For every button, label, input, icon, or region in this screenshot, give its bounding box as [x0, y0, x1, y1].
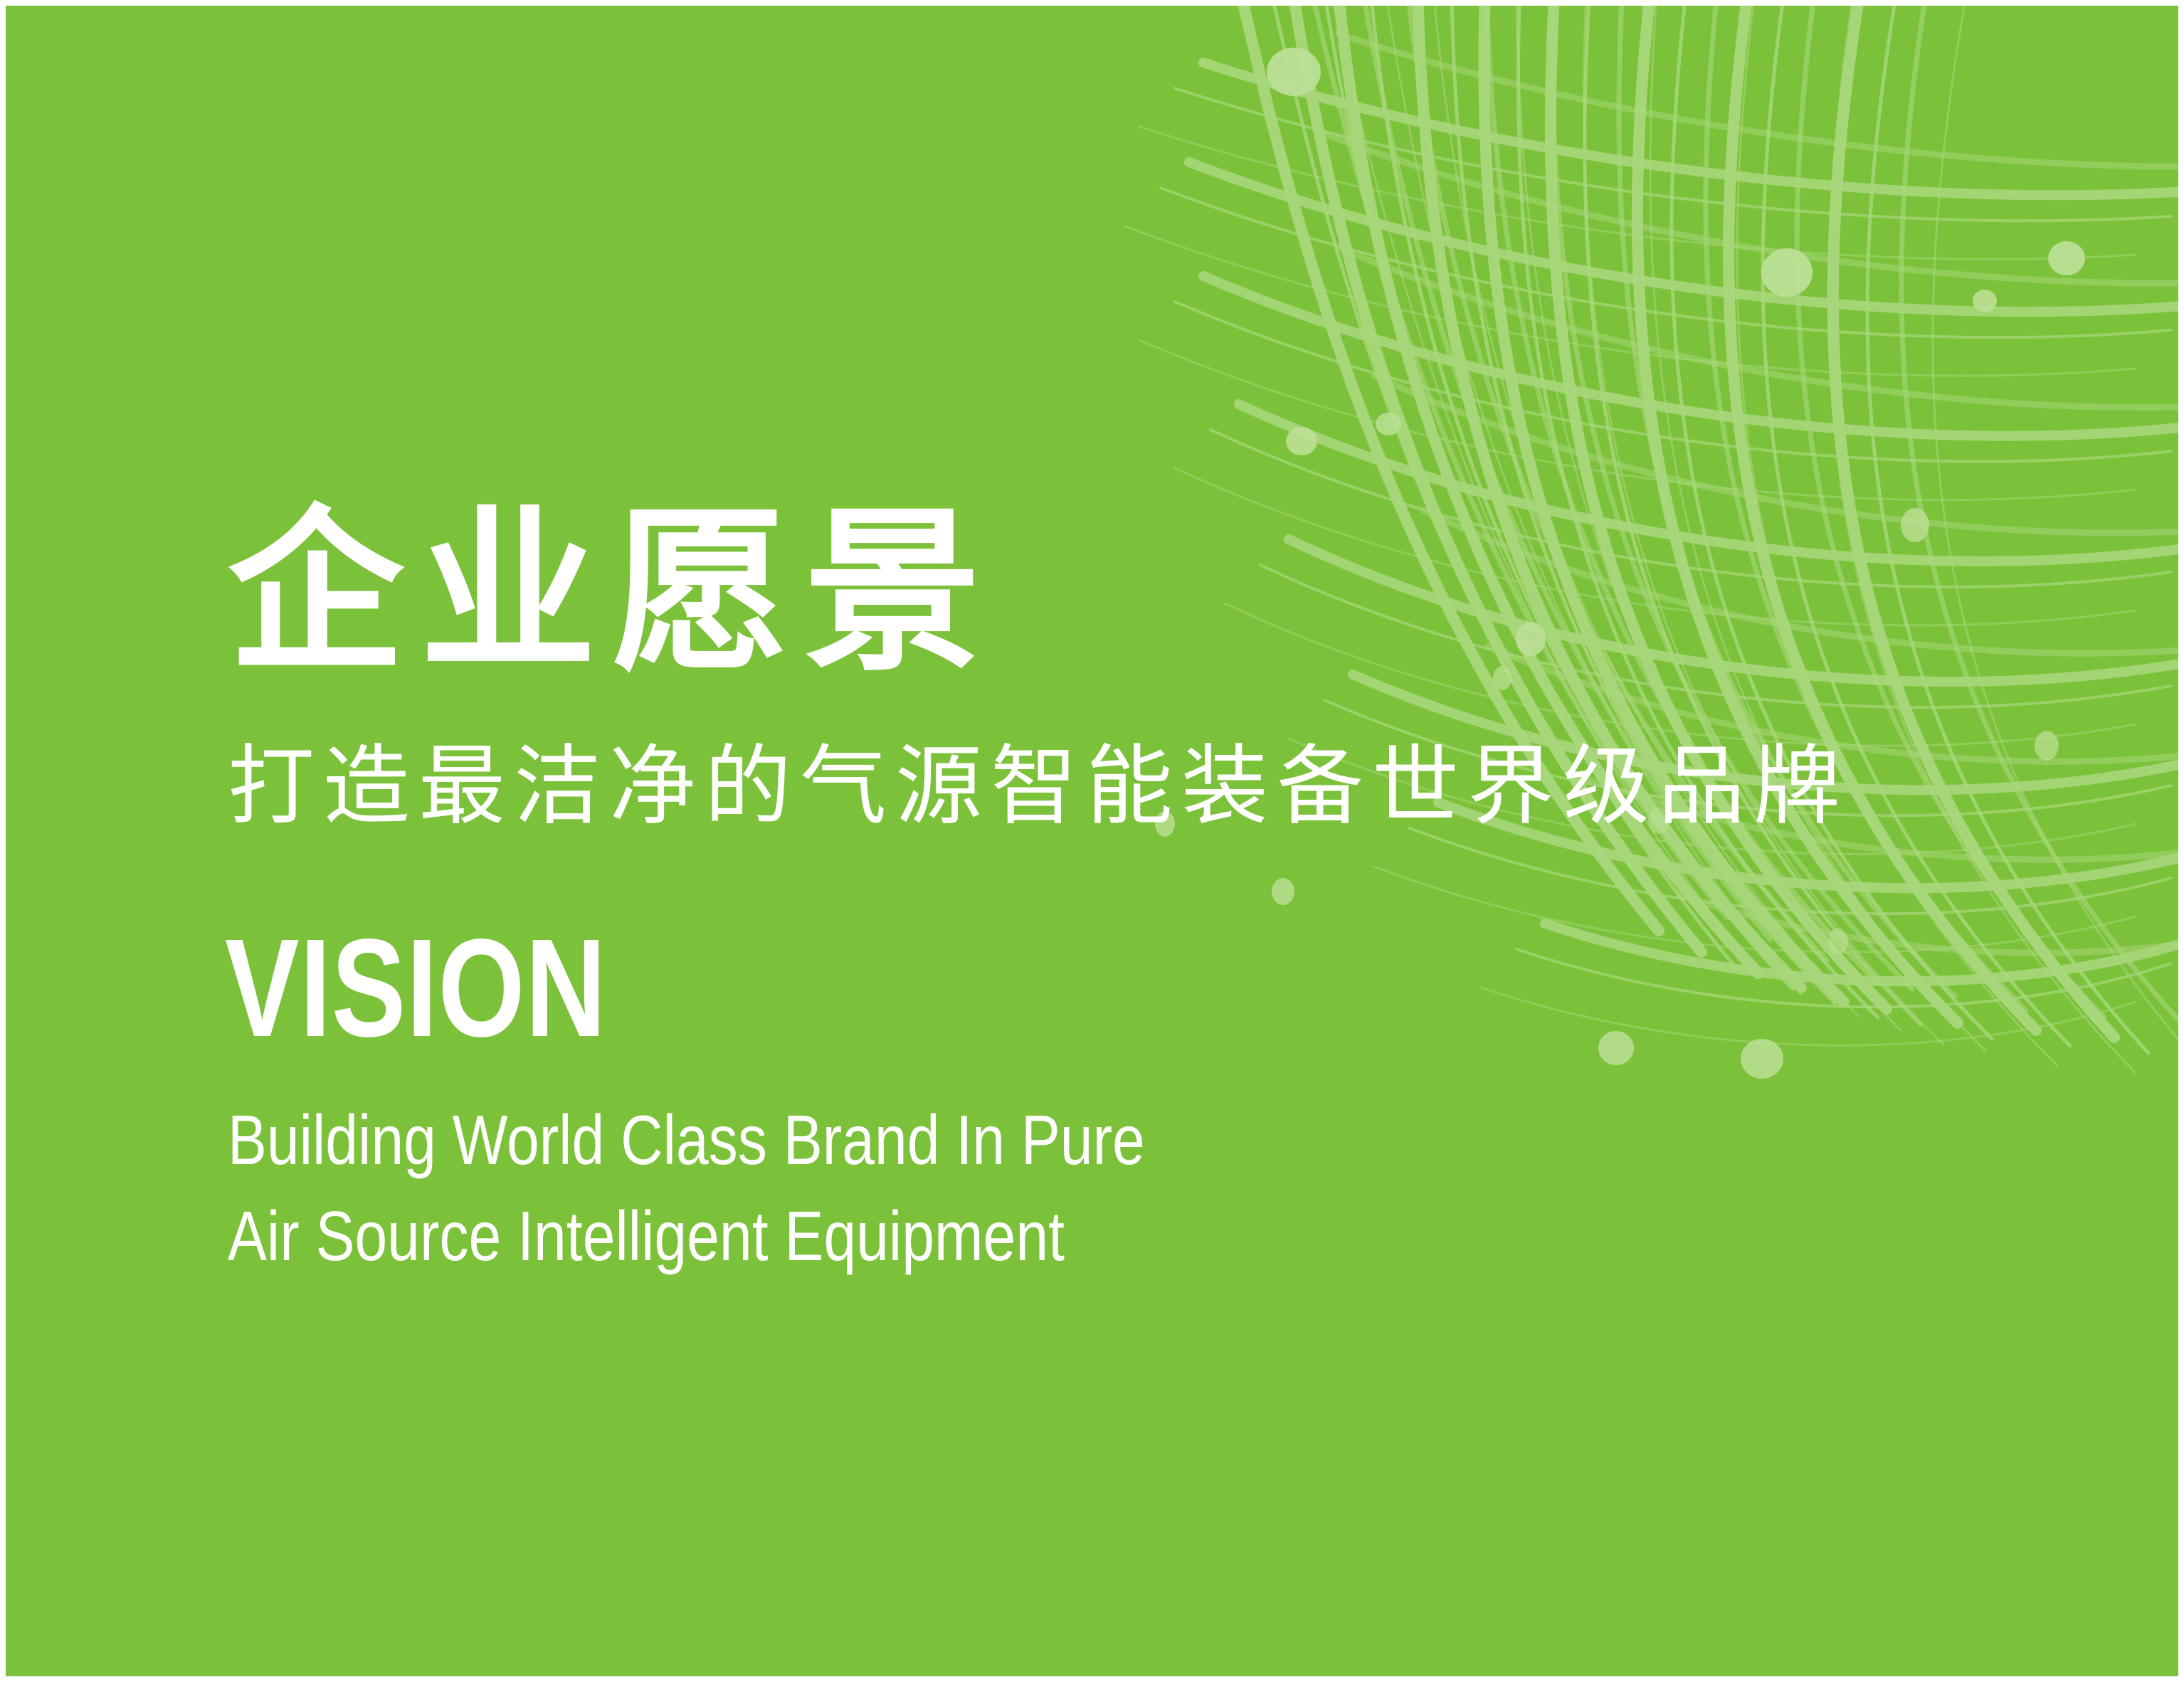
slide-canvas: 企业愿景 打造最洁净的气源智能装备世界级品牌 VISION Building W…: [0, 0, 2184, 1682]
tagline-line-2: Air Source Intelligent Equipment: [228, 1201, 1065, 1271]
page-subtitle: 打造最洁净的气源智能装备世界级品牌: [228, 743, 1849, 830]
globe-network-graphic: [6, 6, 2178, 1676]
tagline-line-1: Building World Class Brand In Pure: [228, 1105, 1145, 1175]
slide-background: 企业愿景 打造最洁净的气源智能装备世界级品牌 VISION Building W…: [6, 6, 2178, 1676]
page-title: 企业愿景: [228, 504, 996, 680]
heading-vision: VISION: [225, 919, 606, 1058]
